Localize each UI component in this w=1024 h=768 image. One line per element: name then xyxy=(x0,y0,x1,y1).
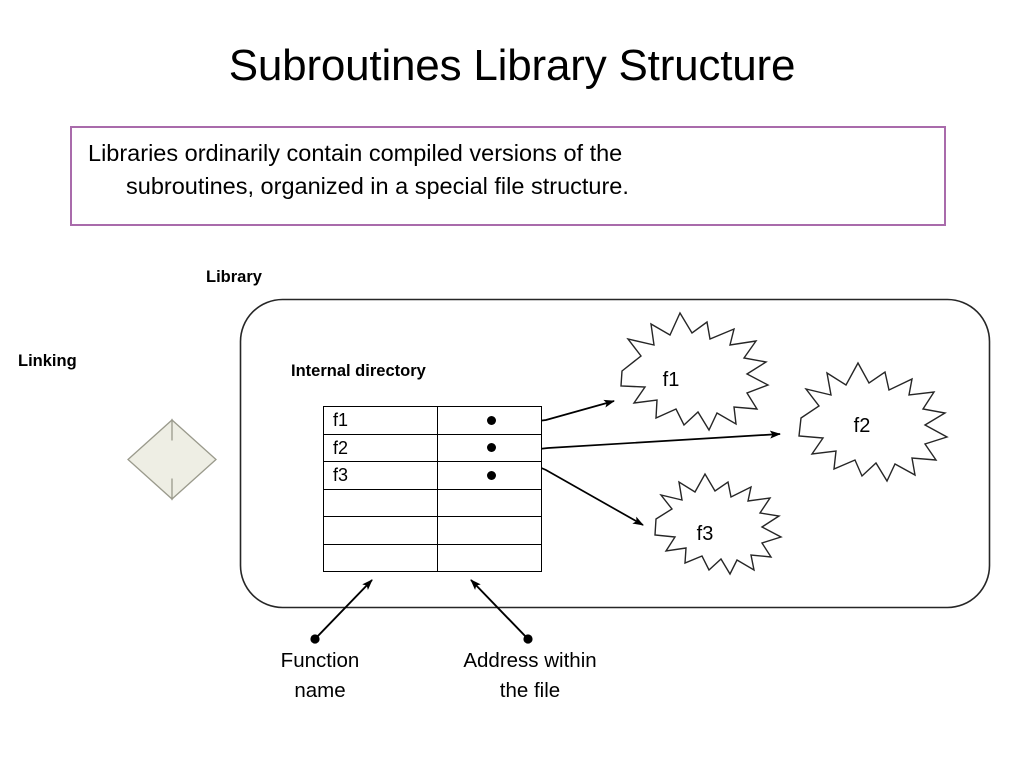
starburst-label-f3: f3 xyxy=(697,523,714,545)
callout-line-1: Libraries ordinarily contain compiled ve… xyxy=(88,140,622,166)
label-library: Library xyxy=(206,268,262,287)
table-cell-address xyxy=(438,462,542,490)
callout-line-2: subroutines, organized in a special file… xyxy=(88,170,924,203)
annotation-address-line1: Address within xyxy=(434,646,626,676)
table-cell-address xyxy=(438,434,542,462)
table-row: f3 xyxy=(324,462,542,490)
label-linking: Linking xyxy=(18,352,77,371)
address-dot xyxy=(487,416,496,425)
label-internal-directory: Internal directory xyxy=(291,362,426,381)
subroutine-starburst-f2 xyxy=(799,363,947,481)
page-title: Subroutines Library Structure xyxy=(0,44,1024,88)
starburst-label-f2: f2 xyxy=(854,415,871,437)
annotation-address-within-file: Address within the file xyxy=(434,646,626,707)
address-dot xyxy=(487,471,496,480)
annotation-function-name: Function name xyxy=(250,646,390,707)
linking-double-arrow xyxy=(128,420,216,499)
callout-textbox: Libraries ordinarily contain compiled ve… xyxy=(70,126,946,226)
leader-line-function-name xyxy=(315,580,372,639)
annotation-function-name-line2: name xyxy=(250,676,390,706)
slide-canvas: Subroutines Library Structure Libraries … xyxy=(0,0,1024,768)
subroutine-starburst-f3 xyxy=(655,474,781,574)
table-row xyxy=(324,544,542,572)
annotation-address-line2: the file xyxy=(434,676,626,706)
internal-directory-rows: f1 f2 f3 xyxy=(324,407,542,572)
table-row: f1 xyxy=(324,407,542,435)
callout-text: Libraries ordinarily contain compiled ve… xyxy=(88,137,924,204)
table-cell-function-name: f1 xyxy=(324,407,438,435)
leader-dot-function-name xyxy=(310,634,319,643)
table-row xyxy=(324,489,542,517)
double-arrow-icon xyxy=(127,419,172,460)
table-cell-address xyxy=(438,489,542,517)
internal-directory-table: f1 f2 f3 xyxy=(323,406,542,572)
table-cell-function-name xyxy=(324,544,438,572)
table-cell-function-name: f2 xyxy=(324,434,438,462)
table-cell-function-name xyxy=(324,517,438,545)
table-cell-address xyxy=(438,517,542,545)
subroutine-starburst-f1 xyxy=(621,313,768,430)
table-cell-function-name: f3 xyxy=(324,462,438,490)
table-cell-address xyxy=(438,407,542,435)
leader-dot-address xyxy=(523,634,532,643)
leader-line-address xyxy=(471,580,528,639)
starburst-label-f1: f1 xyxy=(663,369,680,391)
table-cell-address xyxy=(438,544,542,572)
address-dot xyxy=(487,443,496,452)
annotation-function-name-line1: Function xyxy=(250,646,390,676)
table-row: f2 xyxy=(324,434,542,462)
table-cell-function-name xyxy=(324,489,438,517)
table-row xyxy=(324,517,542,545)
